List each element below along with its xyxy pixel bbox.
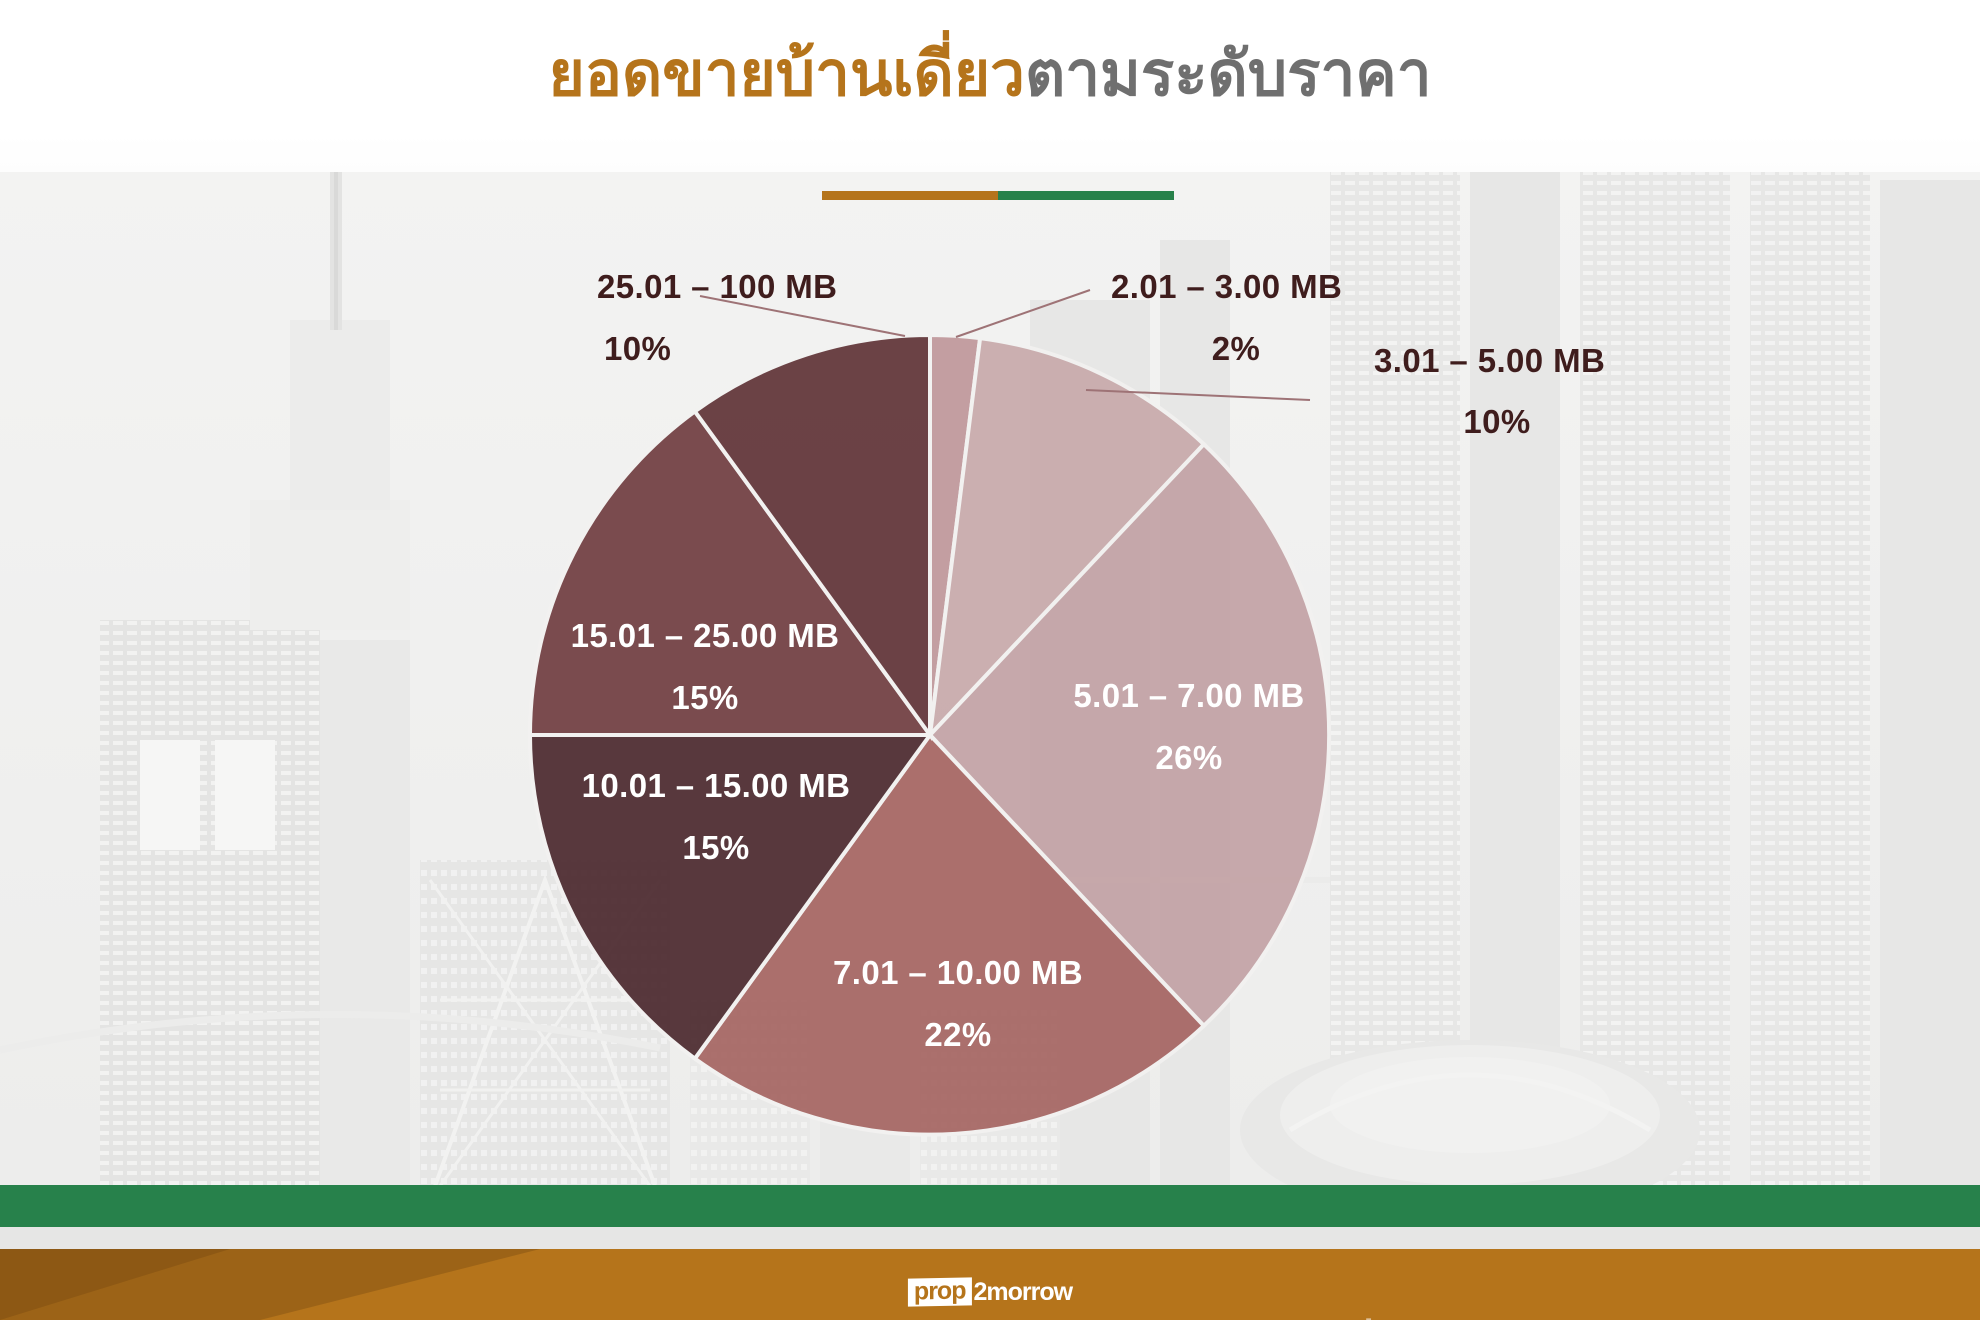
title-accent-bar bbox=[822, 191, 1174, 200]
accent-bar-orange-segment bbox=[822, 191, 998, 200]
logo-word-text: 2morrow bbox=[971, 1280, 1072, 1305]
pie-slices bbox=[530, 335, 1329, 1135]
label-5-01-7-00-name: 5.01 – 7.00 MB bbox=[1073, 677, 1304, 714]
page-title-primary: ยอดขายบ้านเดี่ยว bbox=[548, 40, 1025, 109]
label-15-01-25-00-pct: 15% bbox=[671, 679, 738, 716]
label-25-01-100-name: 25.01 – 100 MB bbox=[597, 268, 837, 305]
logo-mark-text: prop bbox=[908, 1277, 972, 1306]
band-gap bbox=[0, 1227, 1980, 1249]
label-10-01-15-00-name: 10.01 – 15.00 MB bbox=[582, 767, 851, 804]
label-15-01-25-00-name: 15.01 – 25.00 MB bbox=[571, 617, 840, 654]
label-2-01-3-00-pct: 2% bbox=[1212, 330, 1261, 367]
page-title-secondary: ตามระดับราคา bbox=[1025, 40, 1432, 109]
label-10-01-15-00-pct: 15% bbox=[682, 829, 749, 866]
green-divider-band bbox=[0, 1185, 1980, 1227]
label-7-01-10-00-pct: 22% bbox=[924, 1016, 991, 1053]
footer-ghost-text: ประเภท bbox=[1345, 1301, 1493, 1320]
accent-bar-green-segment bbox=[998, 191, 1174, 200]
prop2morrow-logo[interactable]: prop 2morrow bbox=[908, 1277, 1072, 1307]
label-2-01-3-00-name: 2.01 – 3.00 MB bbox=[1111, 268, 1342, 305]
label-3-01-5-00-pct: 10% bbox=[1463, 403, 1530, 440]
label-25-01-100-pct: 10% bbox=[604, 330, 671, 367]
page-title: ยอดขายบ้านเดี่ยวตามระดับราคา bbox=[0, 42, 1980, 109]
label-7-01-10-00-name: 7.01 – 10.00 MB bbox=[833, 954, 1083, 991]
header-band: ยอดขายบ้านเดี่ยวตามระดับราคา bbox=[0, 0, 1980, 172]
leader-line-2-01-3-00 bbox=[956, 290, 1090, 337]
slide-canvas: 25.01 – 100 MB 10% 2.01 – 3.00 MB 2% 3.0… bbox=[0, 0, 1980, 1320]
label-3-01-5-00-name: 3.01 – 5.00 MB bbox=[1374, 342, 1605, 379]
footer-band: ประเภท prop 2morrow bbox=[0, 1249, 1980, 1320]
label-5-01-7-00-pct: 26% bbox=[1155, 739, 1222, 776]
